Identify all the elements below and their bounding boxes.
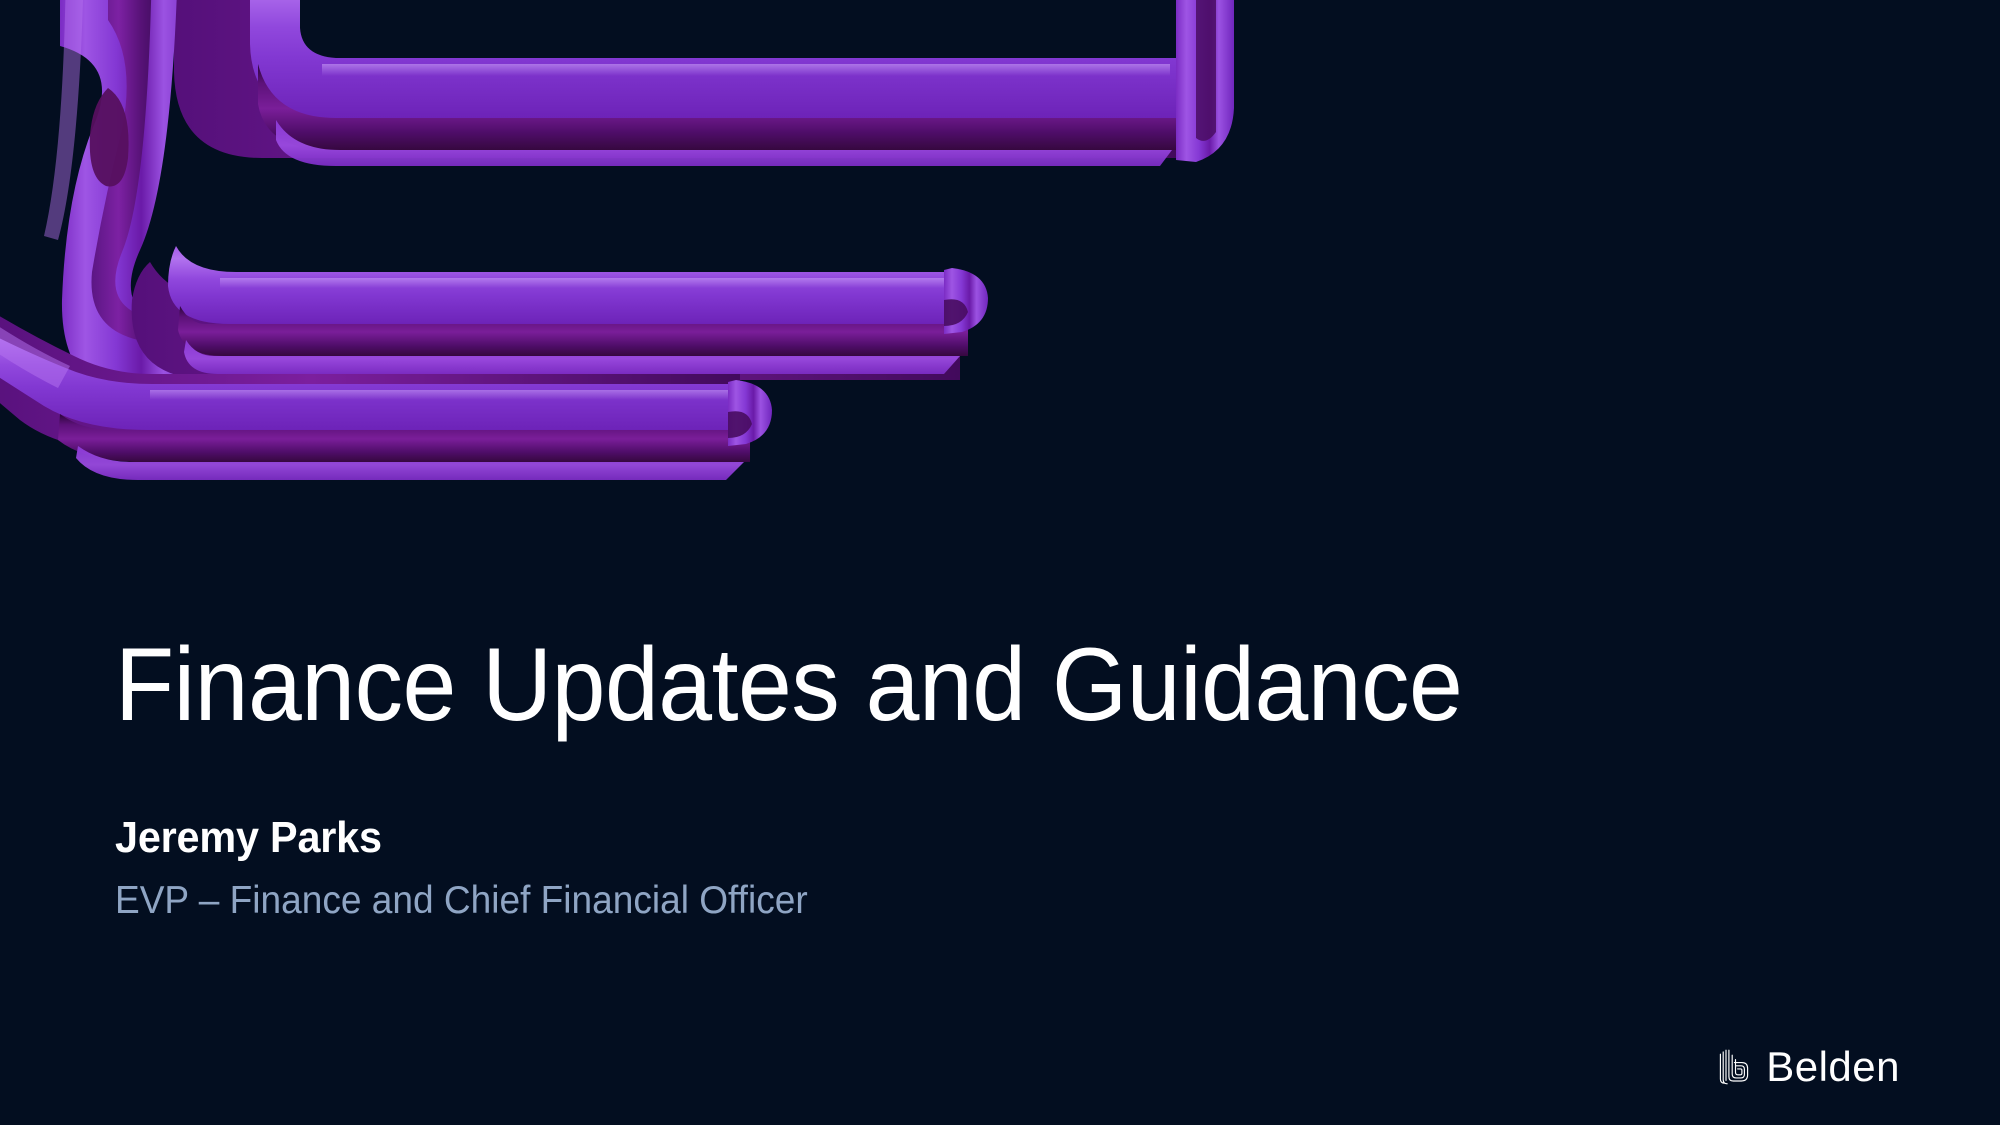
slide-text-block: Finance Updates and Guidance Jeremy Park… [115, 630, 1815, 923]
page-title: Finance Updates and Guidance [115, 630, 1696, 740]
belden-nested-b-mark-icon [1718, 1048, 1752, 1086]
brand-wordmark: Belden [1766, 1046, 1900, 1088]
presenter-name: Jeremy Parks [115, 814, 1713, 862]
brand-logo: Belden [1718, 1046, 1900, 1088]
presenter-role: EVP – Finance and Chief Financial Office… [115, 879, 1730, 924]
presentation-slide: Finance Updates and Guidance Jeremy Park… [0, 0, 2000, 1125]
purple-3d-ribbon-graphic [0, 0, 1250, 560]
